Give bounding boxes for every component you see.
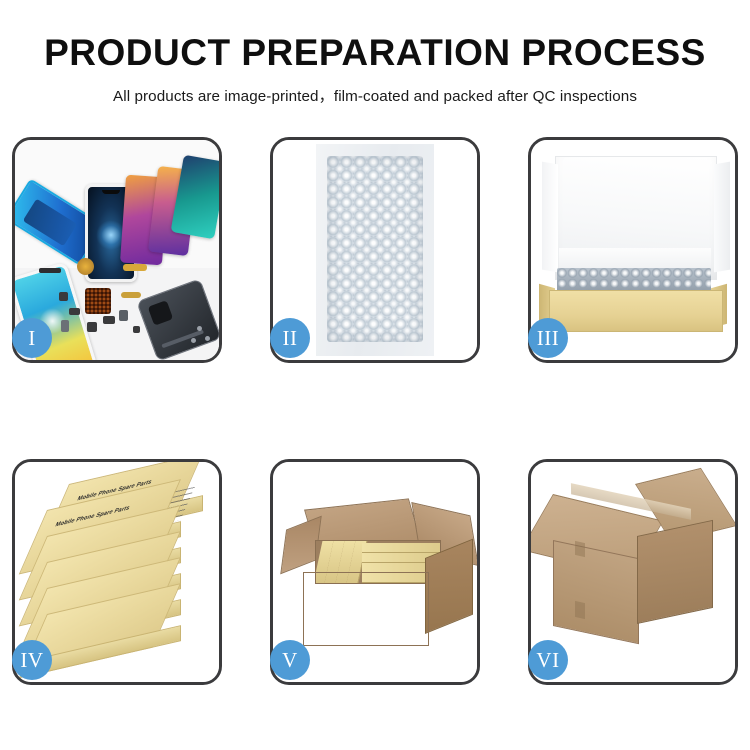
process-steps-grid: I II III: [12, 137, 738, 685]
small-part-6: [119, 310, 128, 321]
kraft-box-stack: Mobile Phone Spare Parts Mobile Phone Sp…: [25, 484, 217, 662]
step-badge-2: II: [270, 318, 310, 358]
product-preparation-page: PRODUCT PREPARATION PROCESS All products…: [0, 0, 750, 750]
step-panel-2[interactable]: II: [270, 137, 480, 363]
screw-2-icon: [205, 336, 210, 341]
bubble-wrap-icon: [327, 156, 423, 342]
page-subtitle: All products are image-printed，film-coat…: [0, 84, 750, 106]
step-badge-4: IV: [12, 640, 52, 680]
screw-3-icon: [191, 338, 196, 343]
small-part-5: [103, 316, 115, 324]
small-part-3: [61, 320, 69, 332]
speaker-bar-icon: [39, 268, 61, 273]
step-panel-5[interactable]: V: [270, 459, 480, 685]
small-part-4: [87, 322, 97, 332]
flex-cable-b-icon: [121, 292, 141, 298]
small-part-7: [133, 326, 140, 333]
step-panel-6[interactable]: VI: [528, 459, 738, 685]
step-panel-4[interactable]: Mobile Phone Spare Parts Mobile Phone Sp…: [12, 459, 222, 685]
step-badge-1: I: [12, 318, 52, 358]
carton-seam-top: [575, 541, 585, 557]
speaker-grille-icon: [85, 288, 111, 314]
kraft-box-front-face: [549, 290, 723, 332]
step-badge-3: III: [528, 318, 568, 358]
camera-module-icon: [148, 300, 174, 326]
vibration-motor-icon: [77, 258, 94, 275]
small-part-1: [59, 292, 68, 301]
step-badge-5: V: [270, 640, 310, 680]
page-header: PRODUCT PREPARATION PROCESS All products…: [0, 0, 750, 106]
small-part-2: [69, 308, 80, 315]
page-title: PRODUCT PREPARATION PROCESS: [0, 34, 750, 73]
carton-front-face: [553, 540, 639, 644]
screw-1-icon: [197, 326, 202, 331]
step-badge-6: VI: [528, 640, 568, 680]
carton-side-face: [637, 520, 713, 624]
carton-seam-bottom: [575, 601, 585, 619]
flex-cable-a-icon: [123, 264, 147, 271]
step-panel-1[interactable]: I: [12, 137, 222, 363]
carton-front-face: [303, 572, 429, 646]
inner-box-5: [362, 543, 440, 553]
step-panel-3[interactable]: III: [528, 137, 738, 363]
logo-strip: [161, 329, 204, 348]
